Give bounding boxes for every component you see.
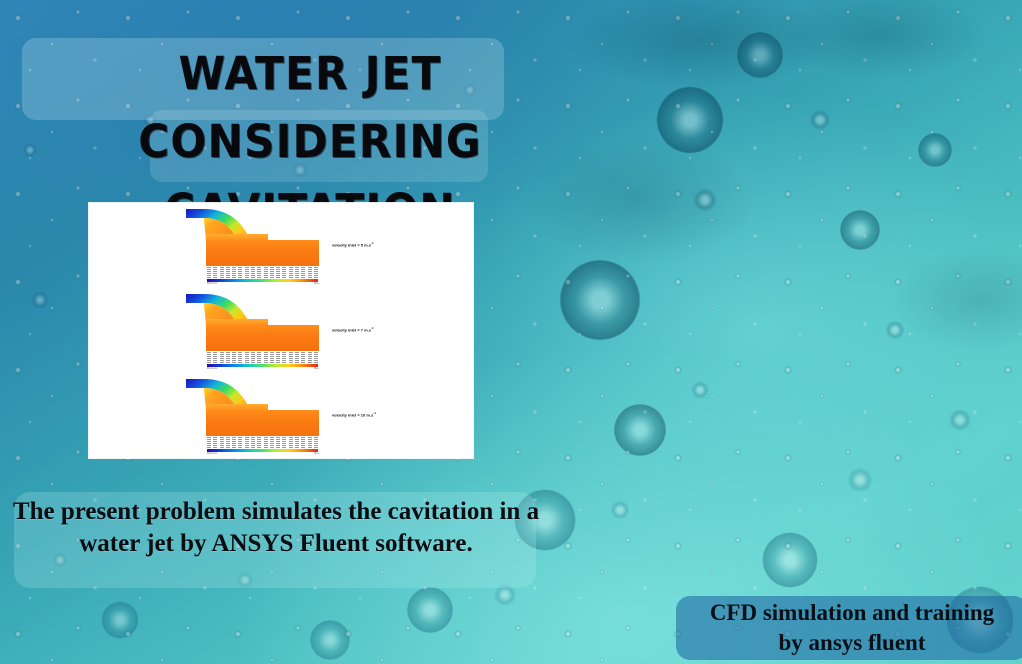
tick-label-strip — [207, 437, 318, 448]
colorbar-min-label: Minimum — [207, 367, 217, 370]
colorbar-min-label: Minimum — [207, 452, 217, 455]
footer-line-1: CFD simulation and training — [676, 598, 1022, 628]
contour-case-row: Minimum Max — [89, 288, 473, 373]
case-label-exponent: -1 — [371, 241, 374, 245]
contour-plot: Minimum Max — [184, 292, 319, 370]
contour-plot: Minimum Max — [184, 207, 319, 285]
colorbar-min-label: Minimum — [207, 282, 217, 285]
case-label-text: velocity inlet = 7 m.s — [332, 327, 371, 332]
case-label-exponent: -1 — [373, 411, 376, 415]
case-label-exponent: -1 — [371, 326, 374, 330]
contour-case-row: Minimum Max — [89, 373, 473, 458]
colorbar — [207, 279, 318, 282]
case-label: velocity inlet = 7 m.s-1 — [332, 326, 374, 332]
case-label-text: velocity inlet = 5 m.s — [332, 242, 371, 247]
colorbar-max-label: Max — [314, 282, 319, 285]
channel-contour — [206, 325, 319, 351]
tick-label-strip — [207, 267, 318, 278]
colorbar — [207, 364, 318, 367]
poster-canvas: WATER JET CONSIDERING CAVITATION — [0, 0, 1022, 664]
case-label: velocity inlet = 10 m.s-1 — [332, 411, 376, 417]
subtitle-text: The present problem simulates the cavita… — [8, 496, 544, 560]
case-label-text: velocity inlet = 10 m.s — [332, 412, 373, 417]
channel-contour — [206, 410, 319, 436]
figure-panel: Minimum Max — [89, 203, 473, 458]
footer-line-2: by ansys fluent — [676, 628, 1022, 658]
title-line-1: WATER JET CONSIDERING — [138, 47, 481, 168]
colorbar-max-label: Max — [314, 367, 319, 370]
case-label: velocity inlet = 5 m.s-1 — [332, 241, 374, 247]
contour-case-row: Minimum Max — [89, 203, 473, 288]
colorbar-max-label: Max — [314, 452, 319, 455]
footer-credit: CFD simulation and training by ansys flu… — [676, 598, 1022, 659]
tick-label-strip — [207, 352, 318, 363]
channel-contour — [206, 240, 319, 266]
colorbar — [207, 449, 318, 452]
contour-plot: Minimum Max — [184, 377, 319, 455]
